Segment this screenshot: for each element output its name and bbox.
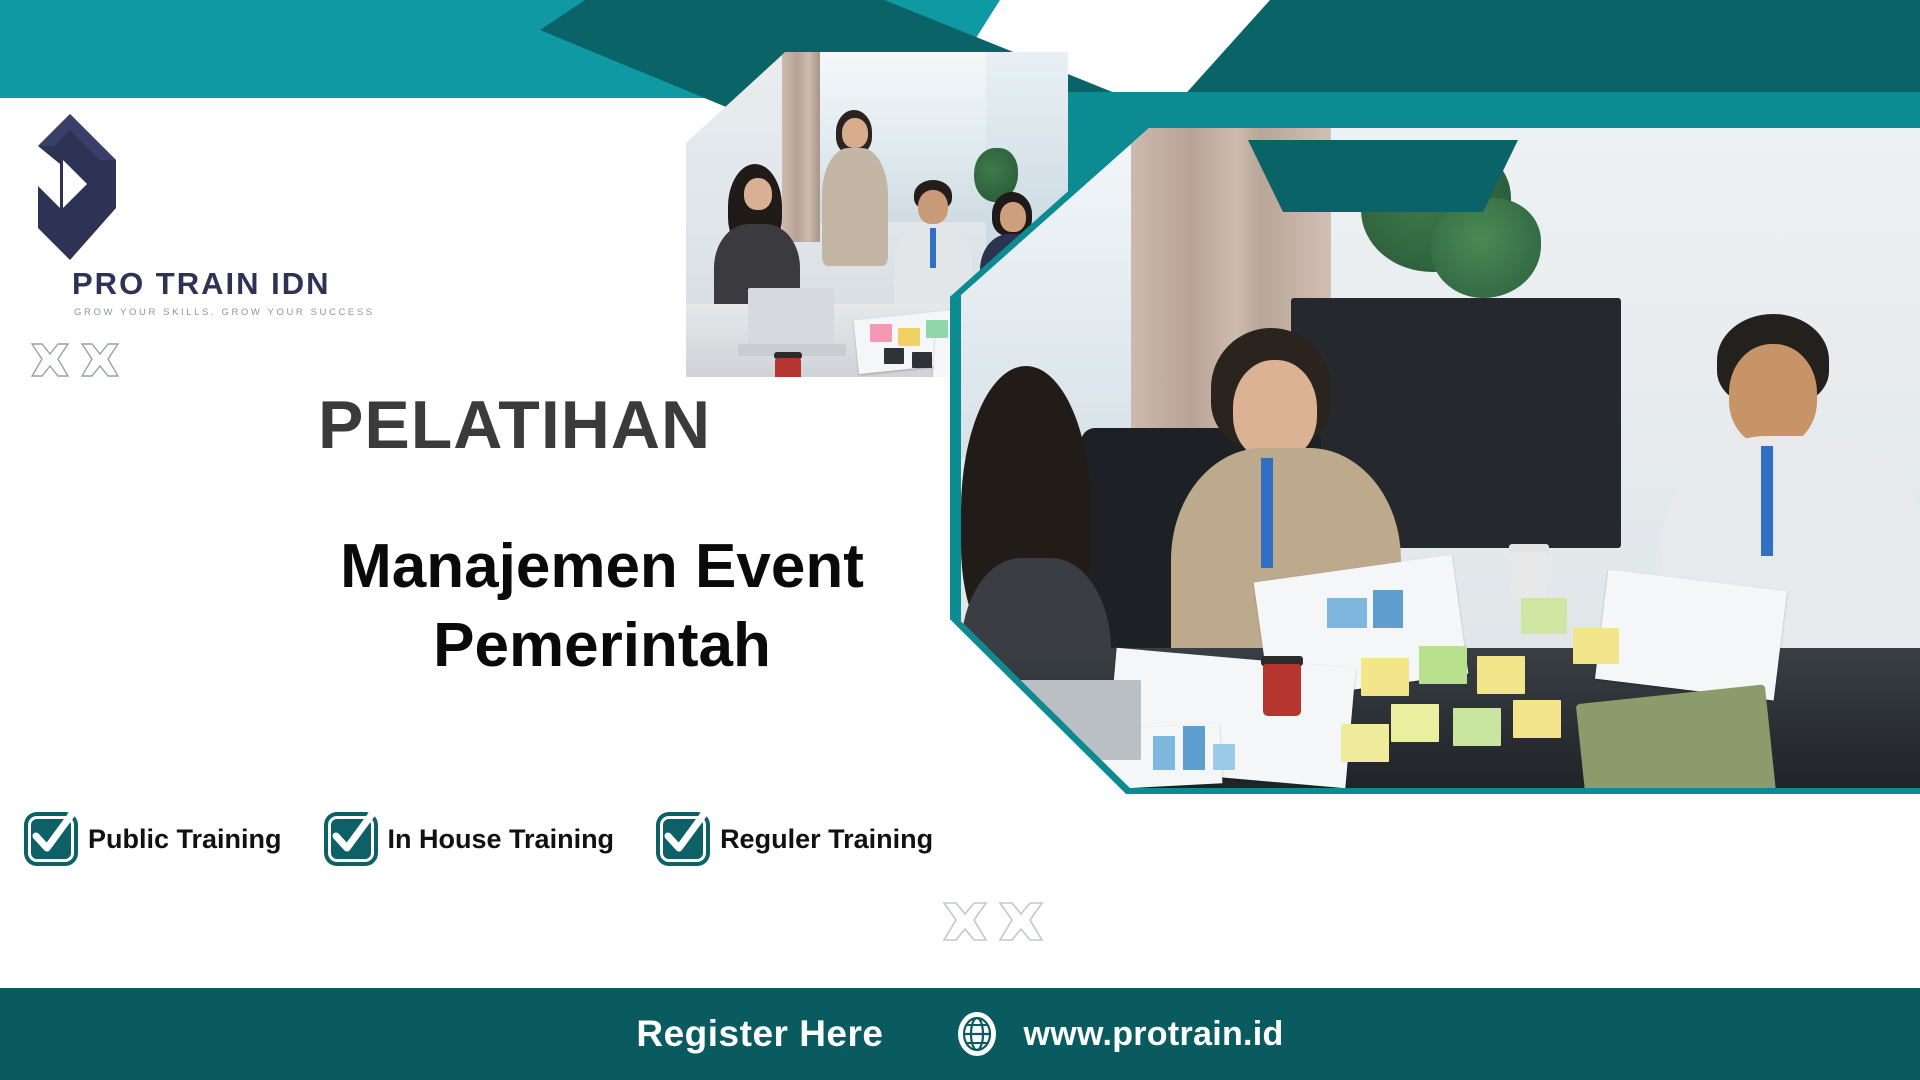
x-cross-decor-icon (26, 340, 126, 386)
training-option-reguler[interactable]: Reguler Training (660, 816, 933, 862)
footer-bar: Register Here www.protrain.id (0, 988, 1920, 1080)
check-icon[interactable] (28, 816, 74, 862)
page-title: Manajemen Event Pemerintah (232, 528, 972, 685)
chevron-arrow-logo-icon (30, 112, 124, 262)
check-icon[interactable] (660, 816, 706, 862)
training-option-label: In House Training (388, 824, 615, 855)
training-option-label: Reguler Training (720, 824, 933, 855)
photo-team-workshop-main (956, 128, 1920, 788)
register-cta[interactable]: Register Here (636, 1013, 883, 1055)
poster-canvas: PRO TRAIN IDN GROW YOUR SKILLS. GROW YOU… (0, 0, 1920, 1080)
brand-logo: PRO TRAIN IDN GROW YOUR SKILLS. GROW YOU… (30, 112, 360, 318)
decor-chevron-dark (1248, 140, 1518, 212)
check-icon[interactable] (328, 816, 374, 862)
brand-tagline: GROW YOUR SKILLS. GROW YOUR SUCCESS (74, 307, 360, 318)
title-line-1: Manajemen Event (340, 532, 864, 601)
training-option-label: Public Training (88, 824, 282, 855)
website-group[interactable]: www.protrain.id (953, 1010, 1283, 1058)
brand-name: PRO TRAIN IDN (72, 266, 360, 302)
globe-icon (953, 1010, 1001, 1058)
decor-band-top-right-dark (1180, 0, 1920, 100)
page-kicker: PELATIHAN (318, 386, 711, 464)
training-option-inhouse[interactable]: In House Training (328, 816, 615, 862)
website-url[interactable]: www.protrain.id (1023, 1015, 1283, 1054)
title-line-2: Pemerintah (232, 607, 972, 686)
training-options-list: Public Training In House Training Regule… (28, 816, 933, 862)
training-option-public[interactable]: Public Training (28, 816, 282, 862)
x-cross-decor-icon (938, 898, 1048, 950)
